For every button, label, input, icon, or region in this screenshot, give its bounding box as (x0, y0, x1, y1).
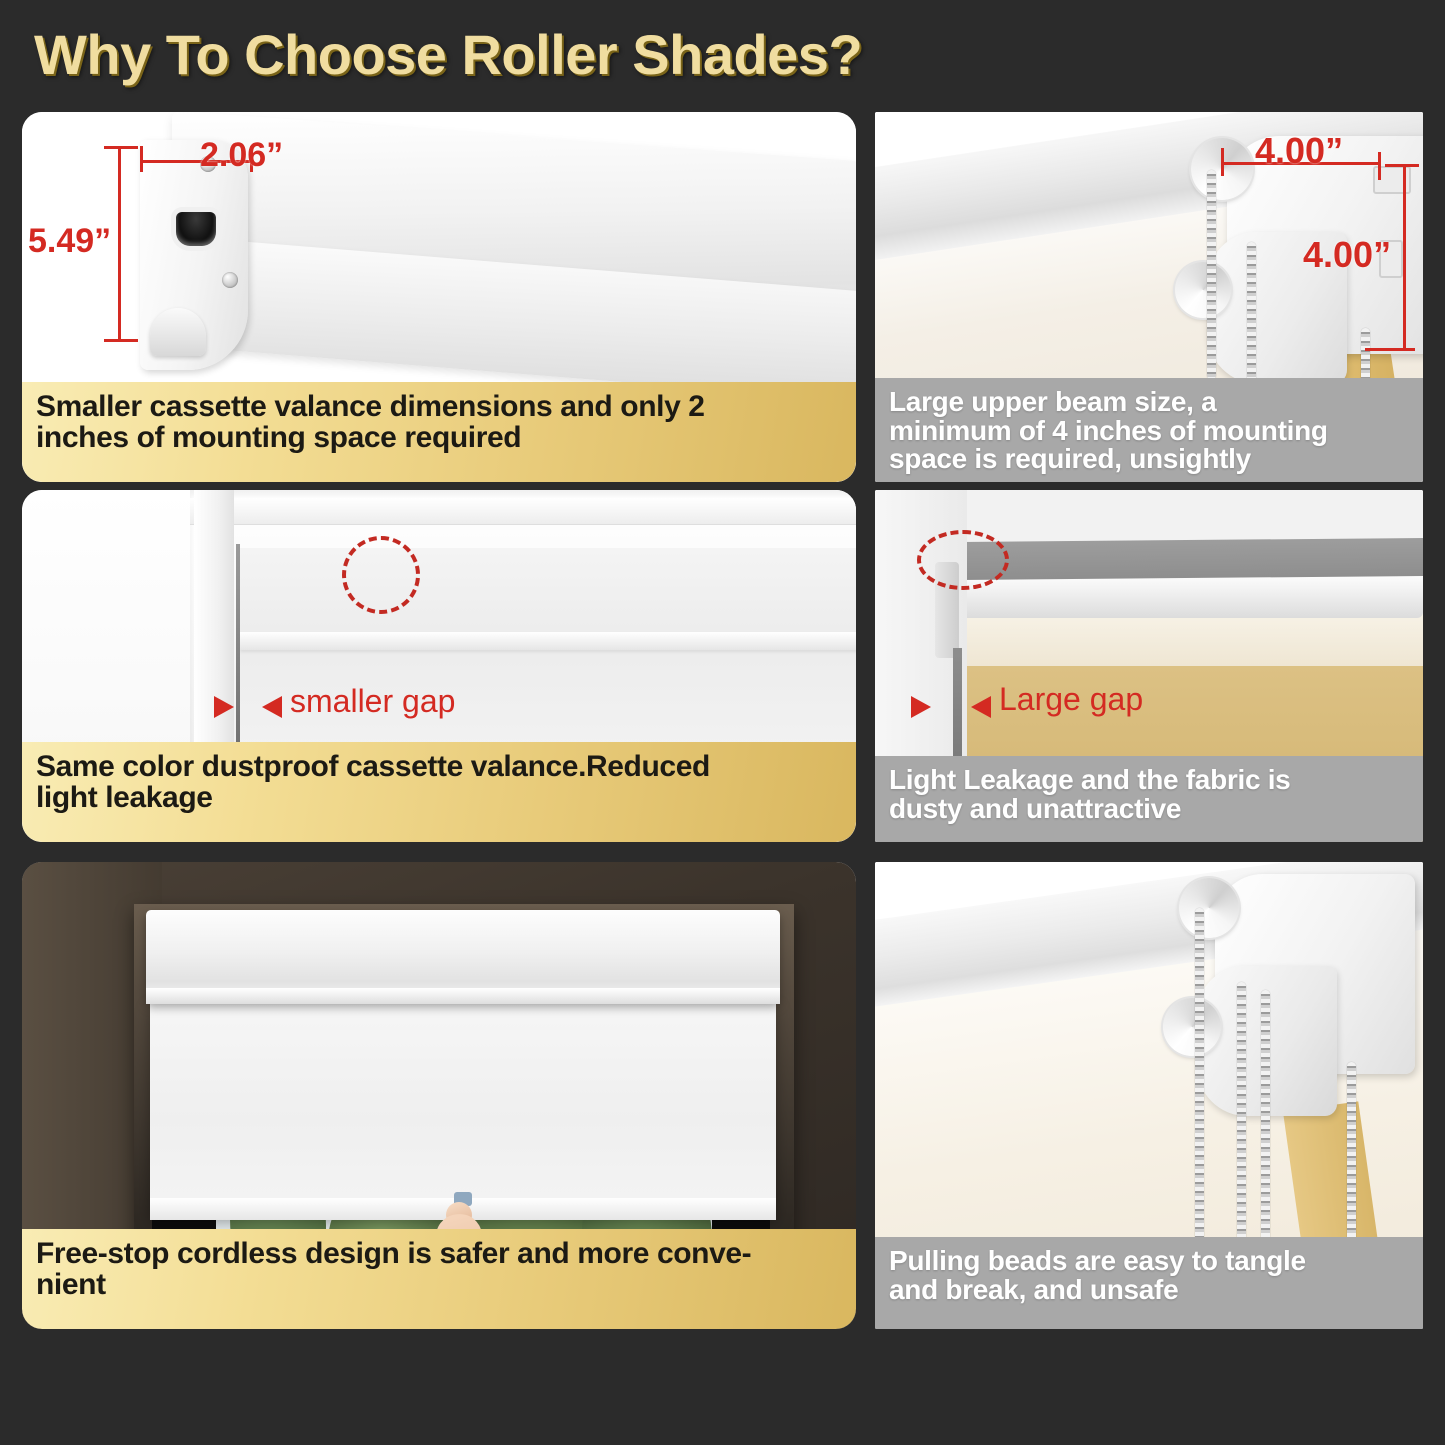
comparison-grid: 5.49” 2.06” Smaller cassette valance dim… (0, 108, 1445, 1332)
shade-mid-band (240, 632, 856, 650)
dimension-line-vertical (118, 146, 121, 342)
con1-caption-line1: Large upper beam size, a (889, 388, 1409, 417)
gap-arrow-left-icon (971, 696, 991, 718)
pro2-caption-line1: Same color dustproof cassette valance.Re… (36, 752, 842, 783)
cassette-shade (240, 548, 856, 752)
con2-caption-line1: Light Leakage and the fabric is (889, 766, 1409, 795)
pro1-caption-line1: Smaller cassette valance dimensions and … (36, 392, 842, 423)
pro3-caption: Free-stop cordless design is safer and m… (22, 1229, 856, 1329)
bead-chain (1361, 328, 1370, 384)
bead-coil (1179, 878, 1239, 938)
pro2-annotation: smaller gap (290, 683, 455, 720)
con2-annotation: Large gap (999, 681, 1143, 718)
con2-caption-line2: dusty and unattractive (889, 795, 1409, 824)
valance-lip (146, 988, 780, 1004)
bead-chain (1247, 242, 1256, 382)
pro3-caption-line1: Free-stop cordless design is safer and m… (36, 1239, 842, 1270)
gap-indicator-line (236, 544, 240, 752)
panel-con-large-gap[interactable]: Large gap Light Leakage and the fabric i… (875, 490, 1423, 842)
infographic-page: Why To Choose Roller Shades? (0, 0, 1445, 1445)
dimension-tick (1221, 148, 1224, 176)
con3-caption-line1: Pulling beads are easy to tangle (889, 1247, 1409, 1276)
pro2-caption: Same color dustproof cassette valance.Re… (22, 742, 856, 842)
con2-caption: Light Leakage and the fabric is dusty an… (875, 756, 1423, 842)
con1-caption-line3: space is required, unsightly (889, 445, 1409, 474)
highlight-circle (917, 530, 1009, 590)
panel-pro-cordless[interactable]: Free-stop cordless design is safer and m… (22, 862, 856, 1329)
dimension-tick (1365, 348, 1415, 351)
dimension-label-height: 4.00” (1303, 234, 1391, 276)
screw-icon (222, 272, 238, 288)
dimension-tick (104, 146, 138, 149)
comparison-row-2: smaller gap Same color dustproof cassett… (0, 490, 1445, 862)
pro2-caption-line2: light leakage (36, 783, 842, 814)
panel-pro-smaller-gap[interactable]: smaller gap Same color dustproof cassett… (22, 490, 856, 842)
cream-band (961, 614, 1423, 666)
dimension-line-vertical (1403, 164, 1406, 350)
dimension-tick (1378, 152, 1381, 180)
roller-shade (150, 1002, 776, 1216)
panel-con-bead-chain[interactable]: Pulling beads are easy to tangle and bre… (875, 862, 1423, 1329)
dark-shadow-band (961, 538, 1423, 580)
con1-caption: Large upper beam size, a minimum of 4 in… (875, 378, 1423, 482)
dimension-tick (104, 339, 138, 342)
dimension-label-depth: 2.06” (200, 136, 283, 175)
gap-arrow-left-icon (262, 696, 282, 718)
bead-coil (1175, 262, 1231, 318)
pro1-caption-line2: inches of mounting space required (36, 423, 842, 454)
gap-arrow-right-icon (911, 696, 931, 718)
pro3-caption-line2: nient (36, 1270, 842, 1301)
dimension-label-width: 4.00” (1255, 130, 1343, 172)
con3-caption-line2: and break, and unsafe (889, 1276, 1409, 1305)
page-title: Why To Choose Roller Shades? (34, 20, 1414, 90)
con1-caption-line2: minimum of 4 inches of mounting (889, 417, 1409, 446)
comparison-row-1: 5.49” 2.06” Smaller cassette valance dim… (0, 108, 1445, 490)
panel-pro-cassette-dimensions[interactable]: 5.49” 2.06” Smaller cassette valance dim… (22, 112, 856, 482)
cassette-bottom-knob (150, 308, 206, 356)
gap-arrow-right-icon (214, 696, 234, 718)
dimension-tick (1385, 164, 1419, 167)
comparison-row-3: Free-stop cordless design is safer and m… (0, 862, 1445, 1332)
highlight-circle (342, 536, 420, 614)
pro1-caption: Smaller cassette valance dimensions and … (22, 382, 856, 482)
panel-con-large-beam[interactable]: 4.00” 4.00” Large upper beam size, a min… (875, 112, 1423, 482)
bead-chain (1207, 170, 1216, 380)
con3-caption: Pulling beads are easy to tangle and bre… (875, 1237, 1423, 1329)
dimension-tick (140, 146, 143, 172)
dimension-label-height: 5.49” (28, 222, 111, 261)
bead-coil (1163, 998, 1221, 1056)
